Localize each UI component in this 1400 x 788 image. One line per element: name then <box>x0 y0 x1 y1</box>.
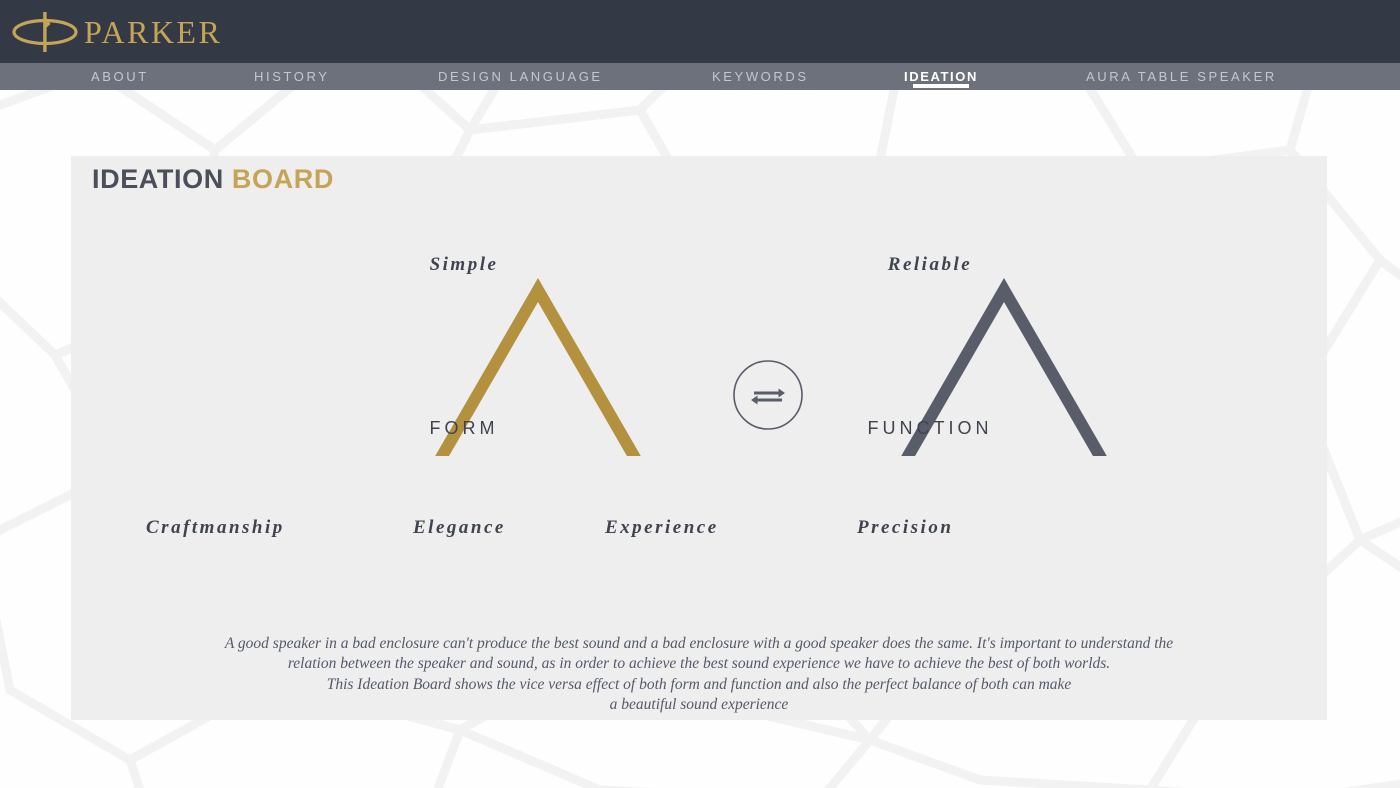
form-triangle-group: Simple FORM Craftmanship Elegance <box>267 156 661 456</box>
nav-item-design-language[interactable]: DESIGN LANGUAGE <box>438 63 603 90</box>
form-left-corner-label: Craftmanship <box>146 517 285 539</box>
page-title-primary: IDEATION <box>92 164 224 194</box>
nav-label: KEYWORDS <box>712 69 809 84</box>
nav-label: ABOUT <box>91 69 149 84</box>
nav-item-history[interactable]: HISTORY <box>254 63 330 90</box>
nav-active-underline <box>913 84 969 88</box>
caption-line-1: A good speaker in a bad enclosure can't … <box>71 634 1327 654</box>
caption-line-3: This Ideation Board shows the vice versa… <box>71 675 1327 695</box>
brand-header: PARKER <box>0 0 1400 63</box>
page-root: PARKER ABOUT HISTORY DESIGN LANGUAGE KEY… <box>0 0 1400 788</box>
ideation-board-card: IDEATION BOARD Simple FORM Craftmanship … <box>71 156 1327 720</box>
nav-item-ideation[interactable]: IDEATION <box>904 63 978 90</box>
exchange-badge[interactable] <box>732 359 804 431</box>
nav-label: HISTORY <box>254 69 330 84</box>
caption-line-4: a beautiful sound experience <box>71 695 1327 715</box>
form-center-label: FORM <box>267 418 661 439</box>
function-right-corner-label: Precision <box>857 517 953 539</box>
nav-item-about[interactable]: ABOUT <box>91 63 149 90</box>
caption-line-2: relation between the speaker and sound, … <box>71 654 1327 674</box>
form-triangle-shape <box>267 156 661 456</box>
nav-label: AURA TABLE SPEAKER <box>1086 69 1277 84</box>
board-caption: A good speaker in a bad enclosure can't … <box>71 634 1327 716</box>
exchange-arrows-icon[interactable] <box>732 359 804 431</box>
brand-name[interactable]: PARKER <box>84 16 222 48</box>
form-right-corner-label: Elegance <box>413 517 506 539</box>
main-navigation[interactable]: ABOUT HISTORY DESIGN LANGUAGE KEYWORDS I… <box>0 63 1400 90</box>
nav-label: DESIGN LANGUAGE <box>438 69 603 84</box>
function-left-corner-label: Experience <box>605 517 719 539</box>
nav-item-aura-table-speaker[interactable]: AURA TABLE SPEAKER <box>1086 63 1277 90</box>
parker-logo-icon[interactable] <box>8 9 82 55</box>
nav-label: IDEATION <box>904 69 978 84</box>
nav-item-keywords[interactable]: KEYWORDS <box>712 63 809 90</box>
